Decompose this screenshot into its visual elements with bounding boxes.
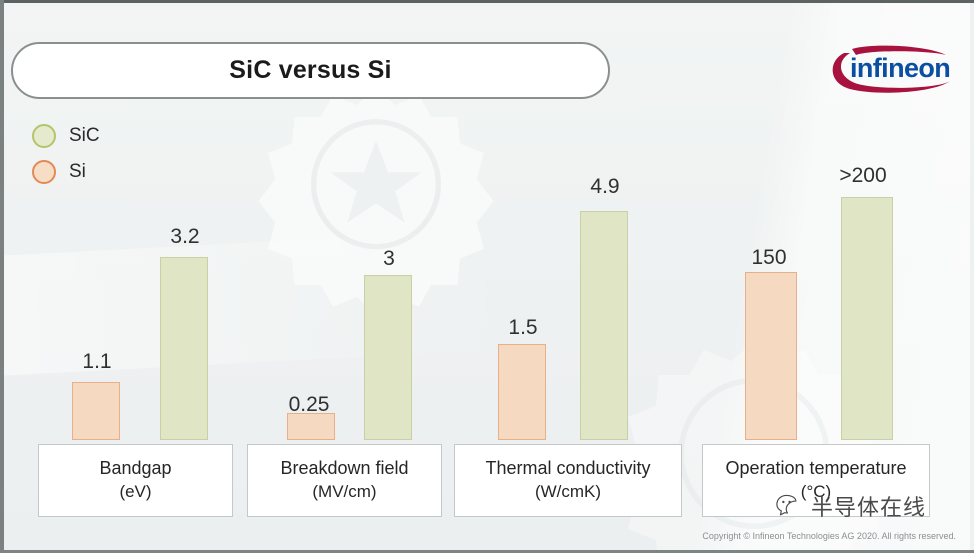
bar-si-group0 bbox=[72, 382, 120, 440]
bar-value-label: 3.2 bbox=[155, 225, 215, 249]
slide-root: SiC versus Si infineon SiC Si 1.13.20.25… bbox=[0, 0, 974, 553]
category-label-box-0: Bandgap(eV) bbox=[38, 444, 233, 517]
category-name: Operation temperature bbox=[725, 457, 906, 481]
category-unit: (MV/cm) bbox=[312, 481, 376, 503]
bar-value-label: 0.25 bbox=[279, 393, 339, 417]
copyright-footer: Copyright © Infineon Technologies AG 202… bbox=[702, 531, 956, 541]
category-name: Bandgap bbox=[99, 457, 171, 481]
wechat-icon bbox=[776, 493, 806, 519]
watermark-text: 半导体在线 bbox=[811, 490, 926, 522]
category-unit: (eV) bbox=[119, 481, 151, 503]
bar-value-label: >200 bbox=[831, 164, 895, 188]
category-name: Breakdown field bbox=[280, 457, 408, 481]
bar-value-label: 150 bbox=[737, 246, 801, 270]
bar-value-label: 1.1 bbox=[67, 350, 127, 374]
category-unit: (W/cmK) bbox=[535, 481, 601, 503]
bar-sic-group3 bbox=[841, 197, 893, 440]
bar-si-group3 bbox=[745, 272, 797, 440]
bar-value-label: 4.9 bbox=[575, 175, 635, 199]
category-label-box-1: Breakdown field(MV/cm) bbox=[247, 444, 442, 517]
bar-value-label: 1.5 bbox=[493, 316, 553, 340]
bar-si-group2 bbox=[498, 344, 546, 440]
category-name: Thermal conductivity bbox=[485, 457, 650, 481]
bar-sic-group1 bbox=[364, 275, 412, 440]
wechat-watermark: 半导体在线 bbox=[776, 490, 926, 522]
slide-canvas: SiC versus Si infineon SiC Si 1.13.20.25… bbox=[4, 3, 970, 550]
category-label-box-2: Thermal conductivity(W/cmK) bbox=[454, 444, 682, 517]
bar-si-group1 bbox=[287, 413, 335, 440]
bar-sic-group0 bbox=[160, 257, 208, 440]
bar-sic-group2 bbox=[580, 211, 628, 440]
bar-value-label: 3 bbox=[359, 247, 419, 271]
